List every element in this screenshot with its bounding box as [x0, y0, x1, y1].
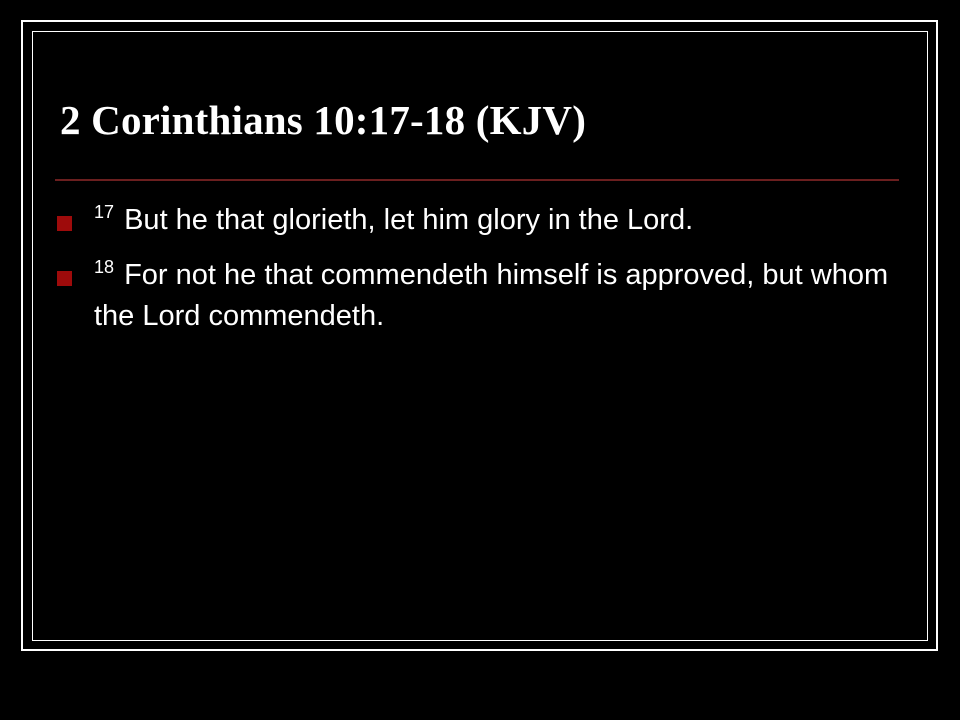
- verse-text: For not he that commendeth himself is ap…: [94, 259, 888, 332]
- verse-number: 17: [94, 202, 116, 222]
- slide-title: 2 Corinthians 10:17-18 (KJV): [60, 97, 900, 143]
- title-divider-rule: [55, 179, 899, 181]
- verse-bullet-list: 17 But he that glorieth, let him glory i…: [44, 200, 916, 351]
- square-bullet-icon: [57, 271, 72, 286]
- slide-content-area: 2 Corinthians 10:17-18 (KJV) 17 But he t…: [36, 35, 924, 637]
- verse-number: 18: [94, 257, 116, 277]
- square-bullet-icon: [57, 216, 72, 231]
- verse-text: But he that glorieth, let him glory in t…: [124, 204, 693, 236]
- presentation-slide: 2 Corinthians 10:17-18 (KJV) 17 But he t…: [0, 0, 960, 720]
- list-item: 17 But he that glorieth, let him glory i…: [44, 200, 916, 241]
- list-item: 18 For not he that commendeth himself is…: [44, 255, 916, 337]
